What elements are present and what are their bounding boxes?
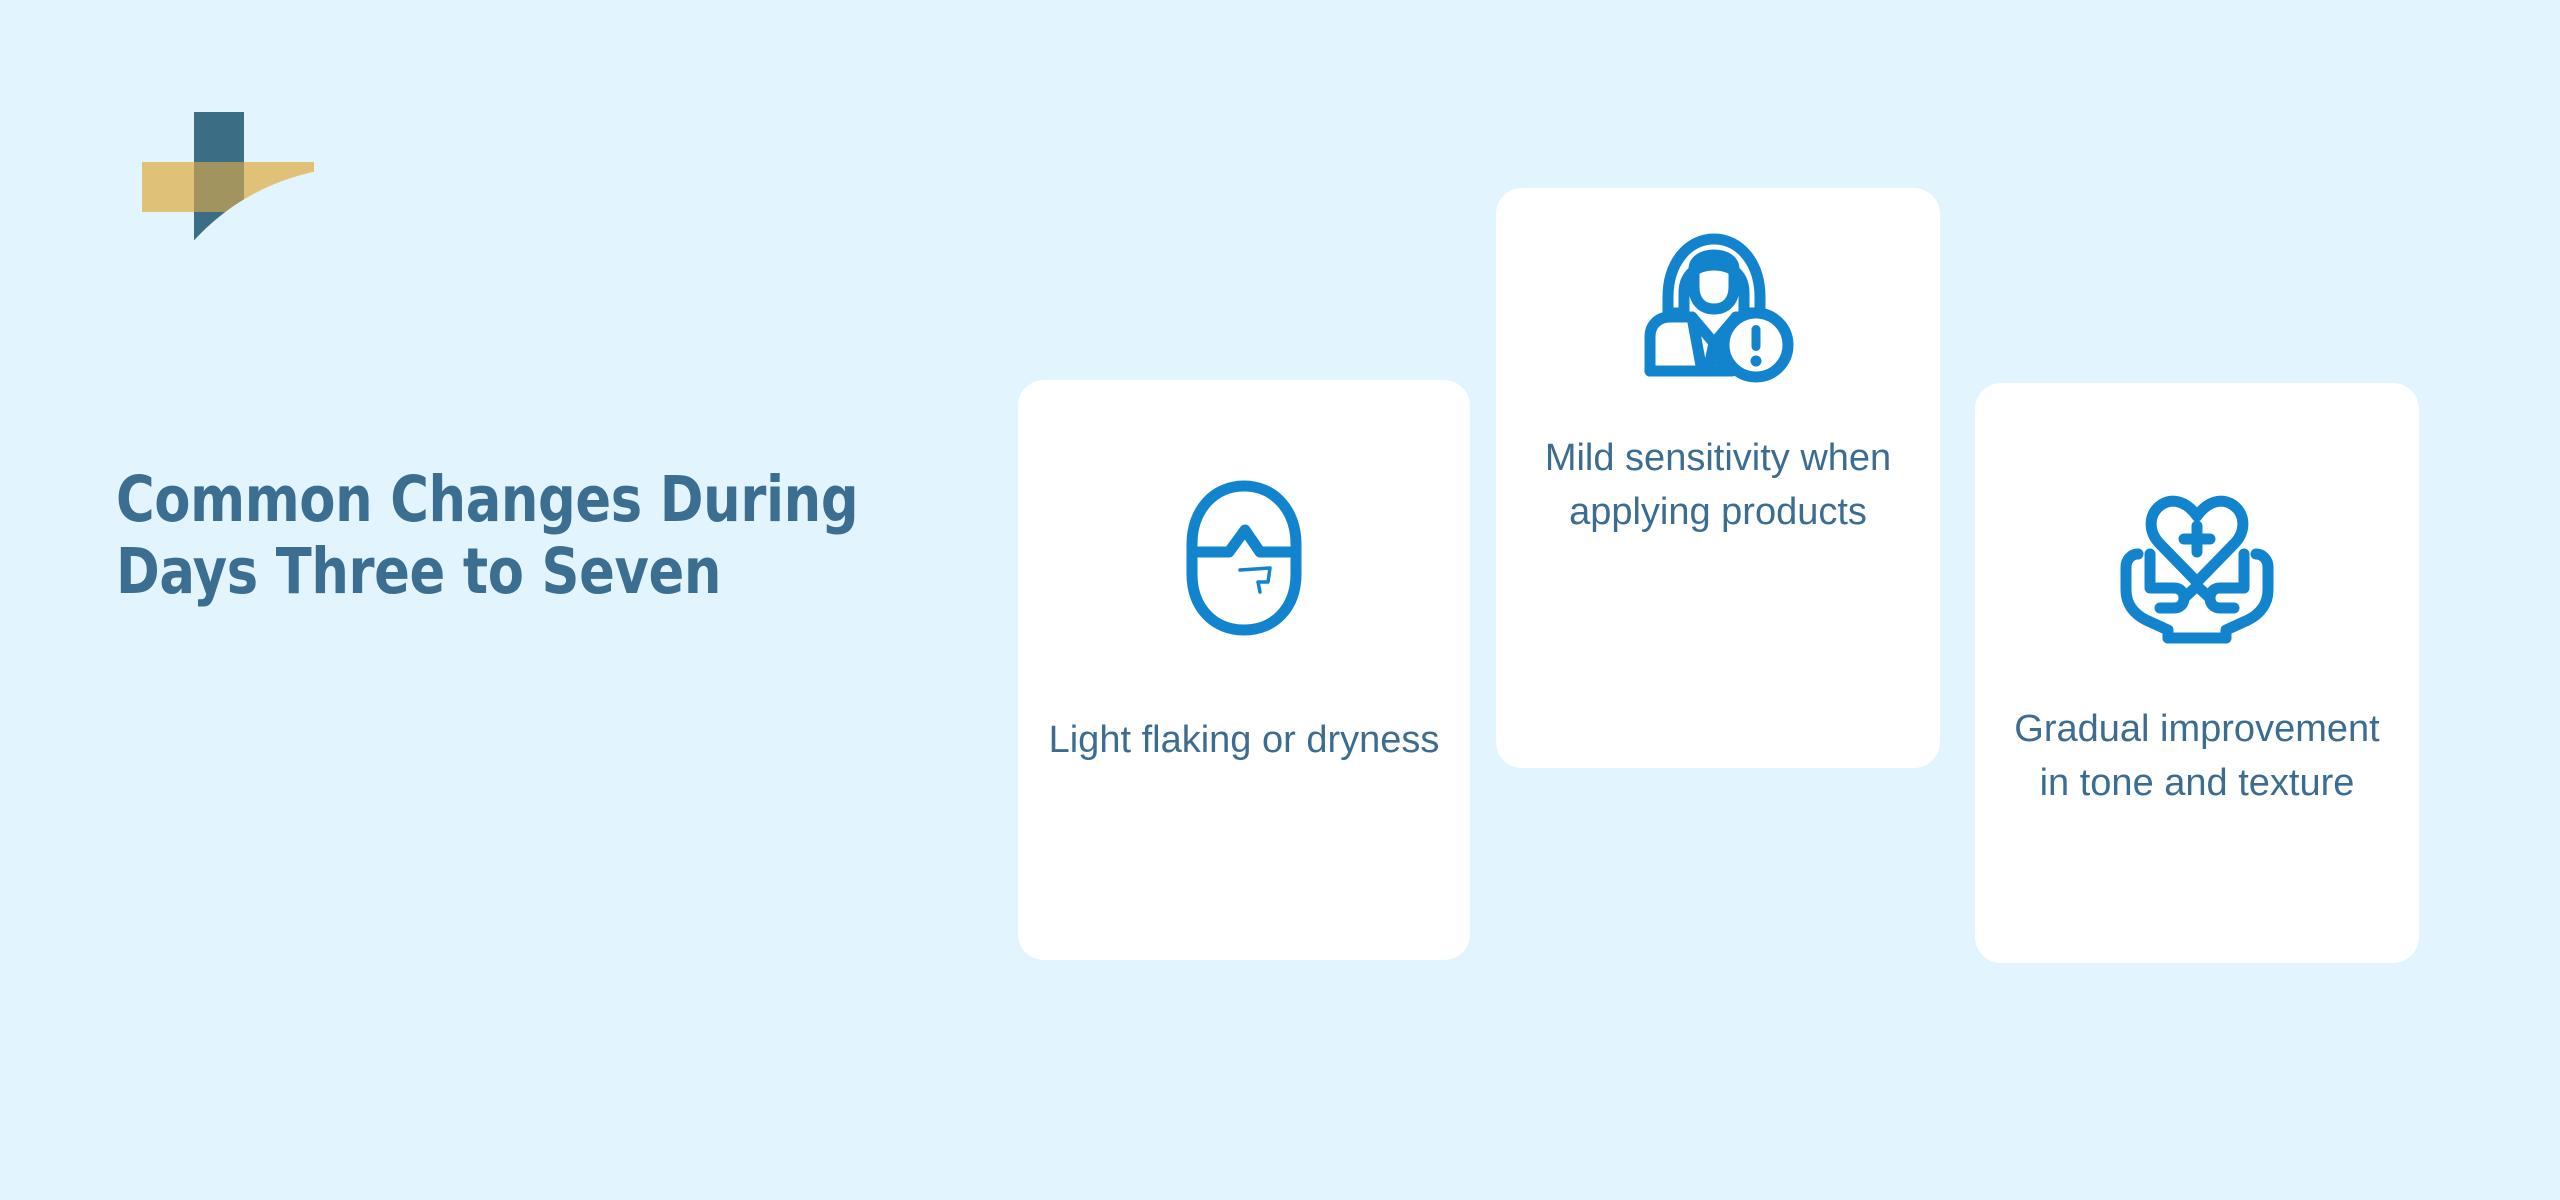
dry-flaking-face-icon [1154,468,1334,648]
feature-card-group: Light flaking or dryness [0,0,2560,1200]
feature-card-gradual-improvement[interactable]: Gradual improvement in tone and texture [1975,383,2419,963]
person-with-alert-icon [1628,216,1808,396]
feature-card-label: Gradual improvement in tone and texture [1975,703,2419,811]
feature-card-label: Light flaking or dryness [1018,714,1470,768]
feature-card-label: Mild sensitivity when applying products [1496,432,1940,540]
hands-holding-heart-icon [2107,479,2287,659]
feature-card-light-flaking[interactable]: Light flaking or dryness [1018,380,1470,960]
feature-card-mild-sensitivity[interactable]: Mild sensitivity when applying products [1496,188,1940,768]
